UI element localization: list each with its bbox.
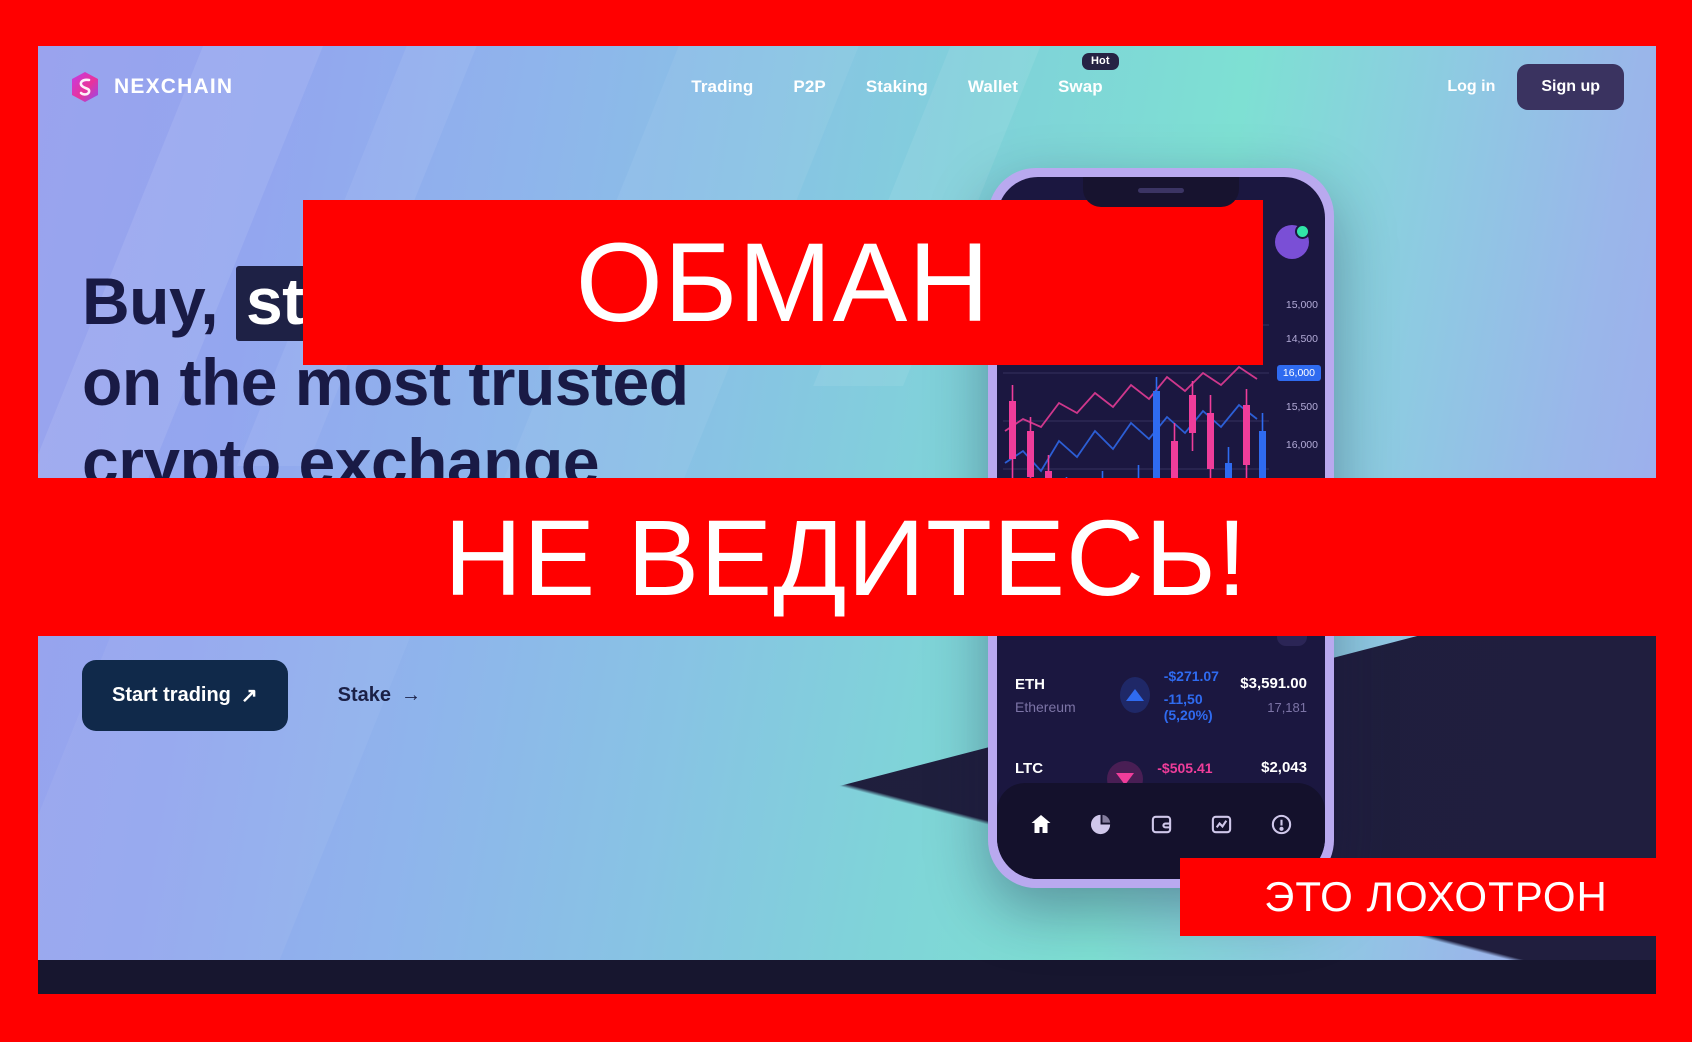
overlay-text-bottom: ЭТО ЛОХОТРОН <box>1264 873 1608 921</box>
overlay-text-middle: НЕ ВЕДИТЕСЬ! <box>444 495 1248 620</box>
brand[interactable]: NEXCHAIN <box>70 71 233 103</box>
coin-price: $3,591.00 <box>1240 675 1307 692</box>
arrow-right-icon: → <box>401 684 421 707</box>
avatar[interactable] <box>1275 225 1309 259</box>
wallet-icon[interactable] <box>1148 811 1174 837</box>
chart-y-label: 15,000 <box>1286 299 1318 311</box>
login-button[interactable]: Log in <box>1447 78 1495 96</box>
pie-chart-icon[interactable] <box>1088 811 1114 837</box>
stake-link-label: Stake <box>338 684 391 707</box>
nexchain-logo-icon <box>70 71 100 103</box>
coin-delta-abs: -$505.41 <box>1157 760 1245 776</box>
arrow-up-right-icon: ↗ <box>241 683 258 708</box>
coin-symbol: ETH <box>1015 676 1076 693</box>
overlay-banner-eto-lohotron: ЭТО ЛОХОТРОН <box>1180 858 1692 936</box>
chart-y-label: 14,500 <box>1286 333 1318 345</box>
coin-row-eth[interactable]: ETH Ethereum -$271.07 -11,50 (5,20%) $3,… <box>997 655 1325 735</box>
overlay-banner-ne-veditesy: НЕ ВЕДИТЕСЬ! <box>0 478 1692 636</box>
hero-cta-row: Start trading ↗ Stake → <box>82 660 421 731</box>
trend-up-icon <box>1120 677 1150 713</box>
start-trading-label: Start trading <box>112 684 231 707</box>
coin-deltas: -$271.07 -11,50 (5,20%) <box>1164 668 1241 723</box>
overlay-banner-obman: ОБМАН <box>303 200 1263 365</box>
nav-item-staking[interactable]: Staking <box>866 77 928 97</box>
nav-item-wallet[interactable]: Wallet <box>968 77 1018 97</box>
headline-line1-prefix: Buy, <box>82 264 236 338</box>
coin-symbol: LTC <box>1015 760 1063 777</box>
coin-delta-abs: -$271.07 <box>1164 668 1241 684</box>
chart-y-label: 15,500 <box>1286 401 1318 413</box>
coin-identity: ETH Ethereum <box>1015 676 1076 715</box>
start-trading-button[interactable]: Start trading ↗ <box>82 660 288 731</box>
nav-item-p2p[interactable]: P2P <box>793 77 825 97</box>
nav-item-swap[interactable]: Swap Hot <box>1058 77 1103 97</box>
site-header: NEXCHAIN Trading P2P Staking Wallet Swap… <box>38 46 1656 128</box>
nav-item-trading[interactable]: Trading <box>691 77 753 97</box>
hero-floor-bar <box>38 960 1656 994</box>
screenshot-root: NEXCHAIN Trading P2P Staking Wallet Swap… <box>0 0 1692 1042</box>
coin-price: $2,043 <box>1261 759 1307 776</box>
header-actions: Log in Sign up <box>1447 64 1624 110</box>
coin-volume: 17,181 <box>1240 700 1307 715</box>
chart-y-label-highlighted: 16,000 <box>1277 365 1321 381</box>
chart-y-label: 16,000 <box>1286 439 1318 451</box>
coin-prices: $3,591.00 17,181 <box>1240 675 1307 715</box>
main-nav: Trading P2P Staking Wallet Swap Hot <box>691 77 1102 97</box>
line-chart-icon[interactable] <box>1208 811 1234 837</box>
alert-icon[interactable] <box>1268 811 1294 837</box>
coin-name: Ethereum <box>1015 699 1076 715</box>
nav-item-swap-label: Swap <box>1058 77 1103 96</box>
stake-link[interactable]: Stake → <box>338 684 421 707</box>
hot-badge: Hot <box>1082 53 1119 70</box>
signup-button[interactable]: Sign up <box>1517 64 1624 110</box>
overlay-text-top: ОБМАН <box>576 218 991 347</box>
phone-notch <box>1083 177 1239 207</box>
brand-name: NEXCHAIN <box>114 75 233 99</box>
coin-delta-pct: -11,50 (5,20%) <box>1164 691 1241 723</box>
home-icon[interactable] <box>1028 811 1054 837</box>
